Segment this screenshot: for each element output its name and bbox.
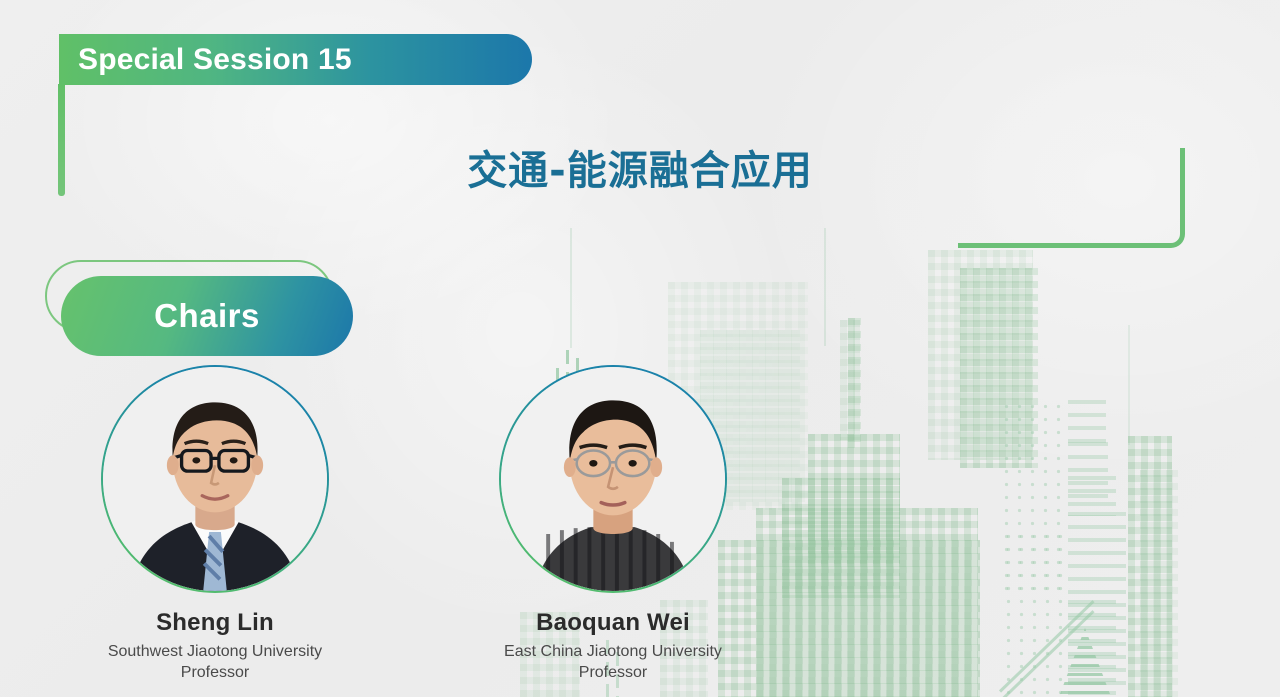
chairs-badge: Chairs: [45, 260, 360, 358]
session-banner: Special Session 15: [59, 34, 532, 85]
chair-affiliation: Southwest Jiaotong University: [50, 642, 380, 663]
avatar-ring: [499, 365, 727, 593]
decor-vline: [824, 228, 826, 346]
session-label: Special Session 15: [59, 43, 352, 77]
decor-pixelblock: [1140, 470, 1178, 697]
chair-affiliation: East China Jiaotong University: [448, 642, 778, 663]
slide-canvas: Special Session 15 交通-能源融合应用 Chairs: [0, 0, 1280, 697]
decor-dotgrid: [1000, 400, 1070, 600]
chair-name: Sheng Lin: [50, 609, 380, 637]
decor-linestack: [1068, 400, 1106, 446]
chairs-badge-label: Chairs: [154, 297, 260, 335]
portrait-photo-icon: [103, 367, 327, 591]
decor-pixelblock: [928, 250, 1033, 460]
decor-pixelblock: [808, 434, 900, 564]
avatar: [103, 367, 327, 591]
session-title: 交通-能源融合应用: [0, 138, 1280, 196]
decor-dotgrid: [1002, 530, 1070, 697]
decor-linestack: [1068, 442, 1108, 498]
decor-linestack: [1068, 512, 1126, 692]
decor-cone-icon: [1060, 628, 1110, 694]
chair-card: Baoquan Wei East China Jiaotong Universi…: [448, 365, 778, 684]
decor-pixelblock: [782, 478, 900, 598]
chair-card: Sheng Lin Southwest Jiaotong University …: [50, 365, 380, 684]
decor-vline: [1128, 325, 1130, 445]
chair-name: Baoquan Wei: [448, 609, 778, 637]
chair-role: Professor: [448, 663, 778, 684]
decor-pixelblock: [1128, 436, 1172, 697]
decor-pixelblock: [840, 320, 860, 440]
decor-pixelblock: [756, 508, 978, 697]
avatar-ring: [101, 365, 329, 593]
portrait-photo-icon: [501, 367, 725, 591]
avatar: [501, 367, 725, 591]
decor-pixelblock: [960, 268, 1038, 468]
decor-diagonal: [999, 600, 1095, 692]
decor-diagonal: [999, 610, 1095, 697]
decor-linestack: [1068, 476, 1116, 516]
decor-vline: [570, 228, 572, 348]
chairs-badge-pill: Chairs: [61, 276, 353, 356]
decor-linestack: [1068, 600, 1116, 697]
decor-pixelblock: [848, 318, 861, 448]
chair-role: Professor: [50, 663, 380, 684]
